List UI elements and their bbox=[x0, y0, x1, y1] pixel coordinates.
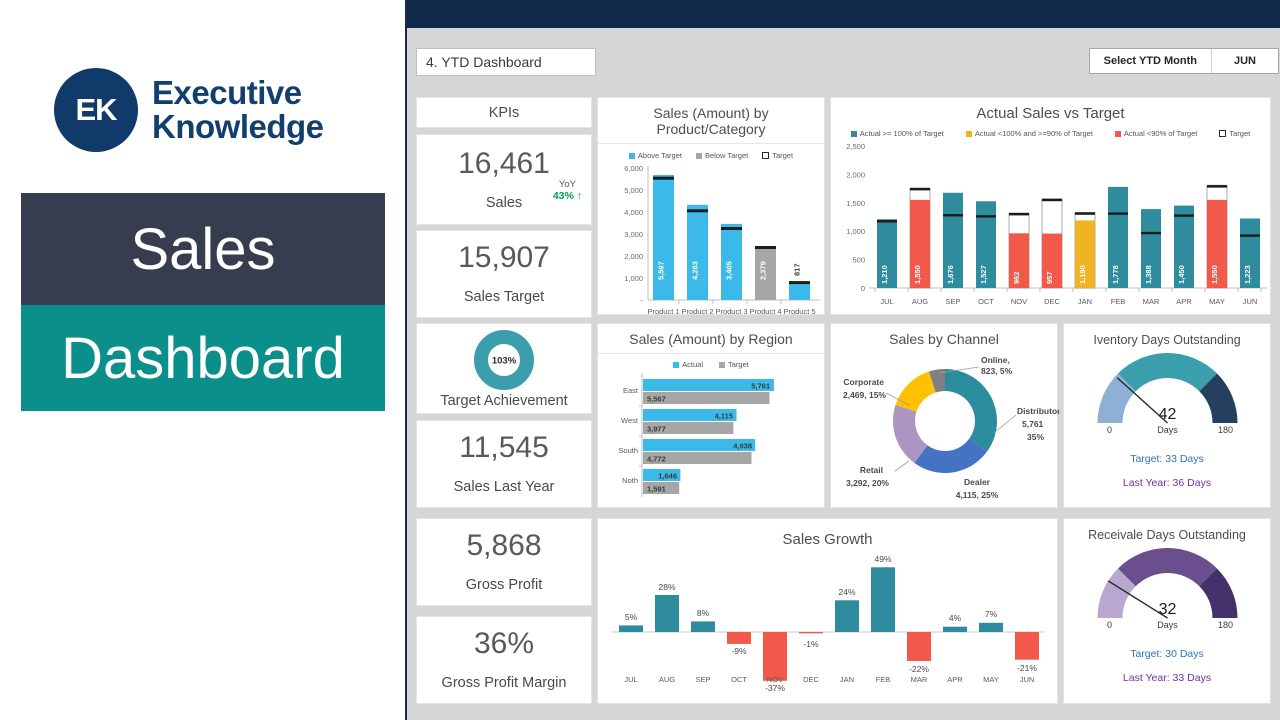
svg-text:500: 500 bbox=[852, 256, 865, 265]
legend-product-category: Above Target Below Target Target bbox=[598, 151, 824, 160]
svg-text:4,772: 4,772 bbox=[647, 455, 666, 464]
svg-text:West: West bbox=[621, 416, 639, 425]
gauge-card-receivable-days[interactable]: Receivale Days Outstanding 32 Days 0 180… bbox=[1063, 518, 1271, 704]
legend-sales-by-region: Actual Target bbox=[598, 360, 824, 369]
svg-text:AUG: AUG bbox=[912, 297, 928, 306]
svg-text:1,676: 1,676 bbox=[946, 265, 955, 284]
svg-text:1,527: 1,527 bbox=[979, 265, 988, 284]
title-dashboard: Dashboard bbox=[21, 305, 385, 411]
svg-text:817: 817 bbox=[793, 263, 802, 276]
legend-item-actual-lt-90: Actual <90% of Target bbox=[1115, 129, 1197, 138]
svg-text:1,646: 1,646 bbox=[658, 472, 677, 481]
svg-text:AUG: AUG bbox=[659, 675, 675, 684]
actual-vs-target-plot: 2,500 2,000 1,500 1,000 500 0 1,210 JUL … bbox=[831, 138, 1272, 316]
logo-line-1: Executive bbox=[152, 76, 324, 110]
legend-item-actual: Actual bbox=[673, 360, 703, 369]
kpi-panel-title: KPIs bbox=[489, 105, 520, 121]
ytd-month-slicer[interactable]: Select YTD Month JUN bbox=[1089, 48, 1279, 74]
kpi-card-sales-last-year[interactable]: 11,545 Sales Last Year bbox=[416, 420, 592, 508]
svg-text:MAY: MAY bbox=[983, 675, 999, 684]
svg-text:JUN: JUN bbox=[1243, 297, 1258, 306]
svg-text:49%: 49% bbox=[874, 554, 891, 564]
sales-growth-plot: 5% JUL 28% AUG 8% SEP -9% OCT -37% NOV N… bbox=[598, 554, 1059, 704]
legend-item-above-target: Above Target bbox=[629, 151, 682, 160]
sheet-tab-ytd-dashboard[interactable]: 4. YTD Dashboard bbox=[416, 48, 596, 76]
target-achievement-value: 103% bbox=[492, 356, 517, 367]
kpi-sales-last-year-value: 11,545 bbox=[459, 433, 549, 463]
svg-text:4,000: 4,000 bbox=[624, 208, 643, 217]
kpi-sales-yoy-caption: YoY bbox=[553, 179, 582, 190]
chart-title-actual-vs-target: Actual Sales vs Target bbox=[831, 98, 1270, 128]
receivable-gauge-target: Target: 30 Days bbox=[1130, 648, 1204, 660]
svg-text:2,000: 2,000 bbox=[624, 252, 643, 261]
svg-text:8%: 8% bbox=[697, 608, 710, 618]
chart-title-sales-by-region: Sales (Amount) by Region bbox=[598, 324, 824, 354]
inventory-gauge: 42 Days 0 180 bbox=[1080, 353, 1255, 435]
window-topbar bbox=[407, 0, 1280, 28]
svg-text:Product 3: Product 3 bbox=[715, 307, 747, 316]
sales-by-region-plot: East 5,761 5,567 West 4,115 3,977 South … bbox=[598, 369, 826, 505]
svg-text:1,190: 1,190 bbox=[1078, 265, 1087, 284]
svg-text:NOV: NOV bbox=[1011, 297, 1027, 306]
svg-text:5,567: 5,567 bbox=[647, 395, 666, 404]
kpi-card-sales[interactable]: 16,461 Sales YoY 43% ↑ bbox=[416, 134, 592, 225]
channel-label-corporate-2: 2,469, 15% bbox=[843, 390, 886, 400]
svg-text:4,115: 4,115 bbox=[715, 412, 733, 421]
kpi-sales-value: 16,461 bbox=[458, 149, 550, 179]
receivable-gauge-last-year: Last Year: 33 Days bbox=[1123, 672, 1211, 684]
svg-text:East: East bbox=[623, 386, 639, 395]
channel-label-retail-2: 3,292, 20% bbox=[846, 478, 889, 488]
legend-item-below-target: Below Target bbox=[696, 151, 748, 160]
channel-label-dealer-2: 4,115, 25% bbox=[956, 490, 999, 500]
svg-text:DEC: DEC bbox=[1044, 297, 1060, 306]
chart-title-product-category: Sales (Amount) by Product/Category bbox=[598, 98, 824, 144]
svg-text:JAN: JAN bbox=[840, 675, 854, 684]
legend-item-target: Target bbox=[1219, 129, 1250, 138]
svg-text:OCT: OCT bbox=[731, 675, 747, 684]
kpi-card-gross-profit[interactable]: 5,868 Gross Profit bbox=[416, 518, 592, 606]
chart-title-sales-growth: Sales Growth bbox=[598, 519, 1057, 554]
svg-text:NOV: NOV bbox=[767, 675, 783, 684]
svg-text:DEC: DEC bbox=[803, 675, 819, 684]
svg-text:3,405: 3,405 bbox=[725, 261, 734, 280]
legend-item-actual-ge-100: Actual >= 100% of Target bbox=[851, 129, 944, 138]
gauge-title-receivable: Receivale Days Outstanding bbox=[1088, 528, 1246, 542]
chart-card-sales-by-channel[interactable]: Sales by Channel bbox=[830, 323, 1058, 508]
svg-text:1,778: 1,778 bbox=[1111, 265, 1120, 284]
svg-text:South: South bbox=[618, 446, 638, 455]
channel-label-corporate-1: Corporate bbox=[843, 377, 884, 387]
inventory-gauge-unit: Days bbox=[1157, 425, 1178, 435]
svg-text:APR: APR bbox=[947, 675, 963, 684]
receivable-gauge-unit: Days bbox=[1157, 620, 1178, 630]
svg-text:962: 962 bbox=[1012, 271, 1021, 284]
svg-text:5,000: 5,000 bbox=[624, 186, 643, 195]
inventory-gauge-last-year: Last Year: 36 Days bbox=[1123, 477, 1211, 489]
channel-label-dealer-1: Dealer bbox=[964, 477, 991, 487]
svg-text:7%: 7% bbox=[985, 609, 998, 619]
receivable-gauge-value: 32 bbox=[1158, 601, 1176, 618]
chart-title-sales-by-channel: Sales by Channel bbox=[831, 324, 1057, 353]
chart-card-sales-growth[interactable]: Sales Growth 5% JUL 28% AUG 8% SEP -9% bbox=[597, 518, 1058, 704]
channel-label-distributor-2: 5,761 bbox=[1022, 419, 1044, 429]
svg-text:2,500: 2,500 bbox=[846, 142, 865, 151]
svg-text:28%: 28% bbox=[658, 582, 675, 592]
logo-wordmark: Executive Knowledge bbox=[152, 76, 324, 144]
kpi-sales-last-year-label: Sales Last Year bbox=[454, 479, 555, 495]
gauge-title-inventory: Iventory Days Outstanding bbox=[1093, 333, 1240, 347]
channel-label-retail-1: Retail bbox=[860, 465, 883, 475]
svg-text:Product 4: Product 4 bbox=[749, 307, 781, 316]
svg-text:SEP: SEP bbox=[945, 297, 960, 306]
chart-card-actual-vs-target[interactable]: Actual Sales vs Target Actual >= 100% of… bbox=[830, 97, 1271, 315]
svg-text:3,977: 3,977 bbox=[647, 425, 666, 434]
svg-text:-: - bbox=[641, 296, 644, 305]
kpi-target-achievement-label: Target Achievement bbox=[440, 393, 567, 409]
kpi-sales-target-value: 15,907 bbox=[458, 243, 550, 273]
inventory-gauge-target: Target: 33 Days bbox=[1130, 453, 1204, 465]
kpi-sales-yoy: YoY 43% ↑ bbox=[553, 179, 582, 202]
dashboard-root: EK Executive Knowledge Sales Dashboard 4… bbox=[0, 0, 1280, 720]
receivable-gauge-min: 0 bbox=[1106, 620, 1111, 630]
target-achievement-donut-icon: 103% bbox=[474, 330, 534, 390]
inventory-gauge-max: 180 bbox=[1217, 425, 1232, 435]
svg-text:Product 1: Product 1 bbox=[647, 307, 679, 316]
svg-text:-21%: -21% bbox=[1017, 663, 1037, 673]
channel-label-online-2: 823, 5% bbox=[981, 366, 1013, 376]
svg-text:-9%: -9% bbox=[731, 646, 747, 656]
logo: EK Executive Knowledge bbox=[54, 68, 324, 152]
gauge-card-inventory-days[interactable]: Iventory Days Outstanding 42 Days 0 180 bbox=[1063, 323, 1271, 508]
svg-text:Product 2: Product 2 bbox=[681, 307, 713, 316]
svg-text:OCT: OCT bbox=[978, 297, 994, 306]
inventory-gauge-min: 0 bbox=[1106, 425, 1111, 435]
svg-text:1,210: 1,210 bbox=[880, 265, 889, 284]
svg-text:FEB: FEB bbox=[1111, 297, 1126, 306]
svg-text:5%: 5% bbox=[625, 612, 638, 622]
chart-card-sales-by-region[interactable]: Sales (Amount) by Region Actual Target E… bbox=[597, 323, 825, 508]
logo-line-2: Knowledge bbox=[152, 110, 324, 144]
svg-text:Product 5: Product 5 bbox=[783, 307, 815, 316]
svg-text:1,450: 1,450 bbox=[1177, 265, 1186, 284]
title-sales: Sales bbox=[21, 193, 385, 305]
svg-text:APR: APR bbox=[1176, 297, 1192, 306]
svg-text:Noth: Noth bbox=[622, 476, 638, 485]
inventory-gauge-value: 42 bbox=[1158, 406, 1176, 423]
svg-text:1,550: 1,550 bbox=[913, 265, 922, 284]
svg-text:JAN: JAN bbox=[1078, 297, 1092, 306]
dashboard-panel: 4. YTD Dashboard Select YTD Month JUN KP… bbox=[407, 0, 1280, 720]
svg-text:4,263: 4,263 bbox=[691, 261, 700, 280]
channel-label-distributor-1: Distributor bbox=[1017, 406, 1059, 416]
svg-text:1,388: 1,388 bbox=[1144, 265, 1153, 284]
kpi-panel-header: KPIs bbox=[416, 97, 592, 128]
svg-text:957: 957 bbox=[1045, 271, 1054, 284]
svg-text:2,379: 2,379 bbox=[759, 261, 768, 280]
svg-text:5,597: 5,597 bbox=[657, 261, 666, 280]
kpi-gross-profit-margin-label: Gross Profit Margin bbox=[442, 675, 567, 691]
svg-text:1,000: 1,000 bbox=[846, 227, 865, 236]
svg-text:JUN: JUN bbox=[1020, 675, 1035, 684]
svg-text:1,223: 1,223 bbox=[1243, 265, 1252, 284]
svg-text:MAY: MAY bbox=[1209, 297, 1225, 306]
svg-text:3,000: 3,000 bbox=[624, 230, 643, 239]
svg-text:1,550: 1,550 bbox=[1210, 265, 1219, 284]
product-category-plot: 6,000 5,000 4,000 3,000 2,000 1,000 - 5,… bbox=[598, 160, 826, 330]
svg-text:-22%: -22% bbox=[909, 664, 929, 674]
kpi-sales-label: Sales bbox=[486, 195, 522, 211]
svg-text:FEB: FEB bbox=[876, 675, 891, 684]
legend-item-target: Target bbox=[762, 151, 793, 160]
receivable-gauge: 32 Days 0 180 bbox=[1080, 548, 1255, 630]
kpi-gross-profit-value: 5,868 bbox=[466, 531, 541, 561]
kpi-card-sales-target[interactable]: 15,907 Sales Target bbox=[416, 230, 592, 318]
slicer-label: Select YTD Month bbox=[1090, 49, 1212, 73]
legend-item-actual-90-100: Actual <100% and >=90% of Target bbox=[966, 129, 1093, 138]
svg-text:24%: 24% bbox=[838, 587, 855, 597]
kpi-sales-yoy-value: 43% ↑ bbox=[553, 190, 582, 202]
kpi-card-target-achievement[interactable]: 103% Target Achievement bbox=[416, 323, 592, 414]
svg-text:1,591: 1,591 bbox=[647, 485, 666, 494]
brand-panel: EK Executive Knowledge Sales Dashboard bbox=[0, 0, 407, 720]
logo-mark-icon: EK bbox=[54, 68, 138, 152]
kpi-gross-profit-label: Gross Profit bbox=[466, 577, 543, 593]
svg-text:4%: 4% bbox=[949, 613, 962, 623]
channel-label-distributor-3: 35% bbox=[1027, 432, 1044, 442]
receivable-gauge-max: 180 bbox=[1217, 620, 1232, 630]
svg-text:JUL: JUL bbox=[880, 297, 893, 306]
svg-text:SEP: SEP bbox=[695, 675, 710, 684]
svg-text:-1%: -1% bbox=[803, 639, 819, 649]
svg-text:JUL: JUL bbox=[624, 675, 637, 684]
svg-text:MAR: MAR bbox=[1143, 297, 1160, 306]
kpi-gross-profit-margin-value: 36% bbox=[474, 629, 534, 659]
kpi-card-gross-profit-margin[interactable]: 36% Gross Profit Margin bbox=[416, 616, 592, 704]
svg-text:2,000: 2,000 bbox=[846, 170, 865, 179]
chart-card-product-category[interactable]: Sales (Amount) by Product/Category Above… bbox=[597, 97, 825, 315]
svg-text:-37%: -37% bbox=[765, 683, 785, 693]
svg-text:1,500: 1,500 bbox=[846, 199, 865, 208]
sales-by-channel-donut: Online, 823, 5% Distributor 5,761 35% De… bbox=[831, 353, 1059, 508]
channel-label-online-1: Online, bbox=[981, 355, 1010, 365]
svg-text:MAR: MAR bbox=[911, 675, 928, 684]
legend-item-target: Target bbox=[719, 360, 749, 369]
svg-text:4,938: 4,938 bbox=[733, 442, 752, 451]
svg-text:0: 0 bbox=[861, 284, 865, 293]
dashboard-title-block: Sales Dashboard bbox=[21, 193, 385, 411]
legend-actual-vs-target: Actual >= 100% of Target Actual <100% an… bbox=[831, 129, 1270, 138]
svg-text:5,761: 5,761 bbox=[751, 382, 770, 391]
slicer-selected-month[interactable]: JUN bbox=[1212, 49, 1278, 73]
svg-text:6,000: 6,000 bbox=[624, 164, 643, 173]
svg-text:1,000: 1,000 bbox=[624, 274, 643, 283]
kpi-sales-target-label: Sales Target bbox=[464, 289, 544, 305]
